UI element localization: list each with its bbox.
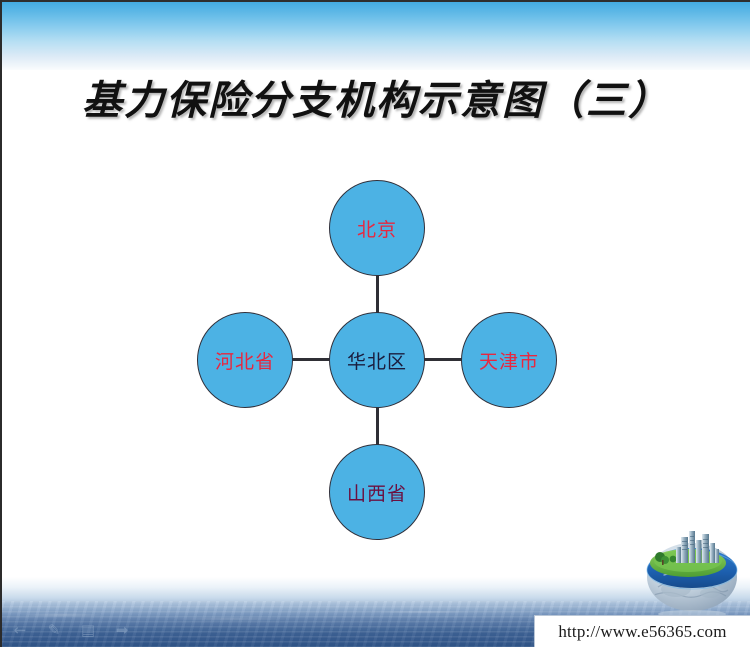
website-url-text: http://www.e56365.com [558,622,726,642]
globe-city-logo-icon [640,527,744,619]
node-shanxi[interactable]: 山西省 [329,444,425,540]
node-shanxi-label: 山西省 [347,479,407,506]
org-chart-diagram: 北京 河北省 华北区 天津市 山西省 [2,0,750,647]
node-hebei-label: 河北省 [215,347,275,374]
node-north-china-region-label: 华北区 [347,347,407,374]
presentation-slide: ← ✎ ▤ ➡ 基力保险分支机构示意图（三） 北京 河北省 华北区 天津市 山西… [0,0,750,647]
node-tianjin[interactable]: 天津市 [461,312,557,408]
node-north-china-region[interactable]: 华北区 [329,312,425,408]
node-beijing[interactable]: 北京 [329,180,425,276]
node-beijing-label: 北京 [357,215,397,242]
node-tianjin-label: 天津市 [479,347,539,374]
website-url-bar[interactable]: http://www.e56365.com [534,615,750,647]
node-hebei[interactable]: 河北省 [197,312,293,408]
